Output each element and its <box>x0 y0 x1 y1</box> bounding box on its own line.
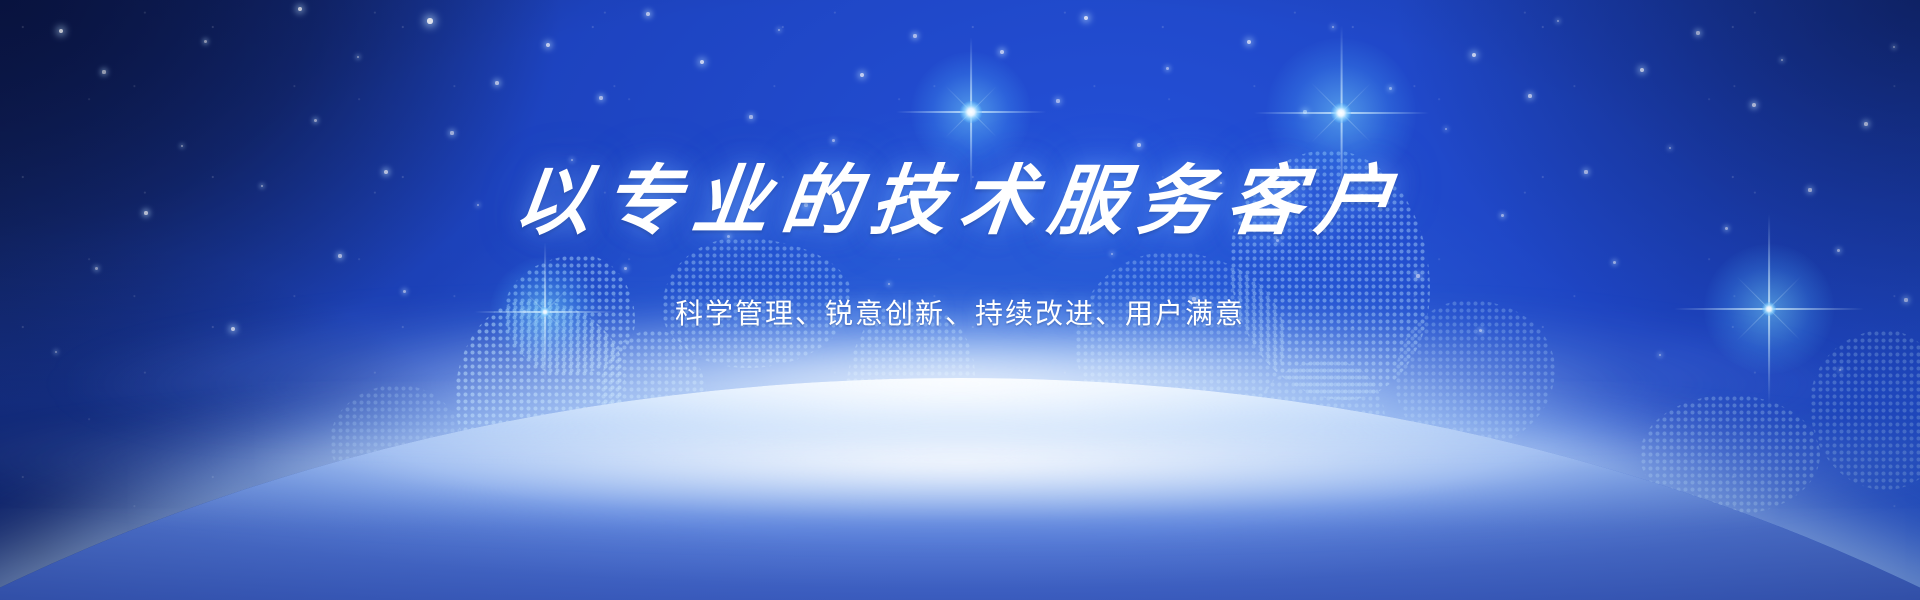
earth-horizon <box>0 270 1920 600</box>
hero-banner: 以专业的技术服务客户 科学管理、锐意创新、持续改进、用户满意 <box>0 0 1920 600</box>
horizon-glow <box>0 360 1920 560</box>
